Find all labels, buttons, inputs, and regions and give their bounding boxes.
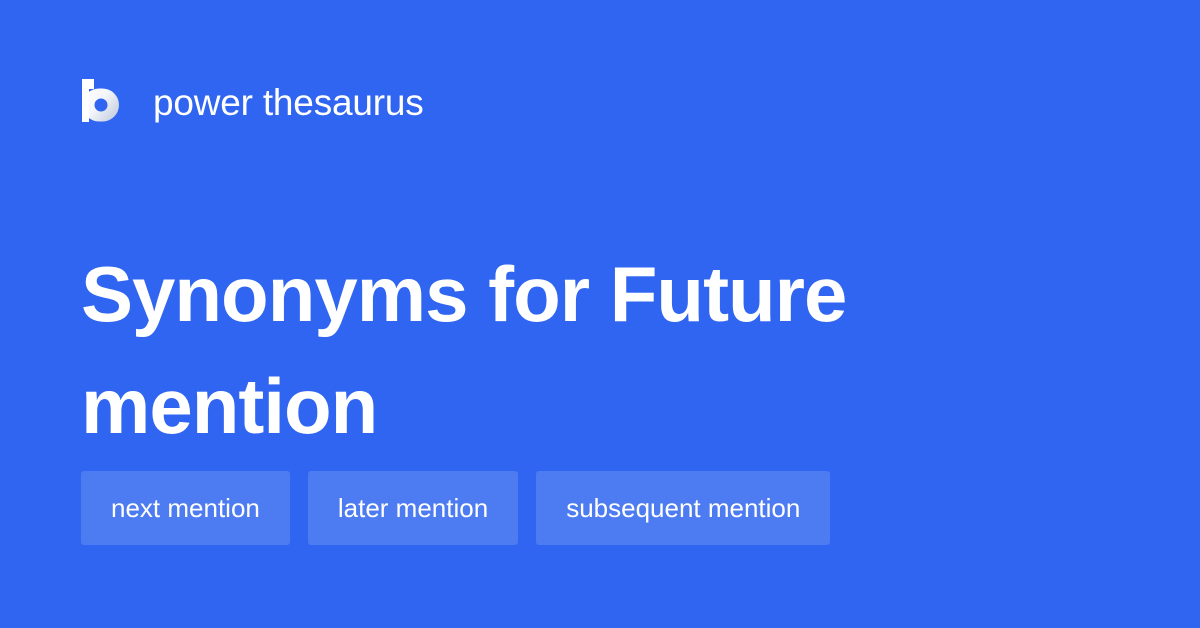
power-thesaurus-b-logo-icon [81,79,123,125]
synonym-chip[interactable]: later mention [308,471,518,545]
page-title: Synonyms for Future mention [81,238,1081,462]
synonym-chip[interactable]: subsequent mention [536,471,830,545]
synonym-chip[interactable]: next mention [81,471,290,545]
page-canvas: power thesaurus Synonyms for Future ment… [0,0,1200,628]
synonym-chip-list: next mention later mention subsequent me… [81,471,830,545]
brand-header[interactable]: power thesaurus [81,76,424,128]
brand-name: power thesaurus [153,84,424,121]
